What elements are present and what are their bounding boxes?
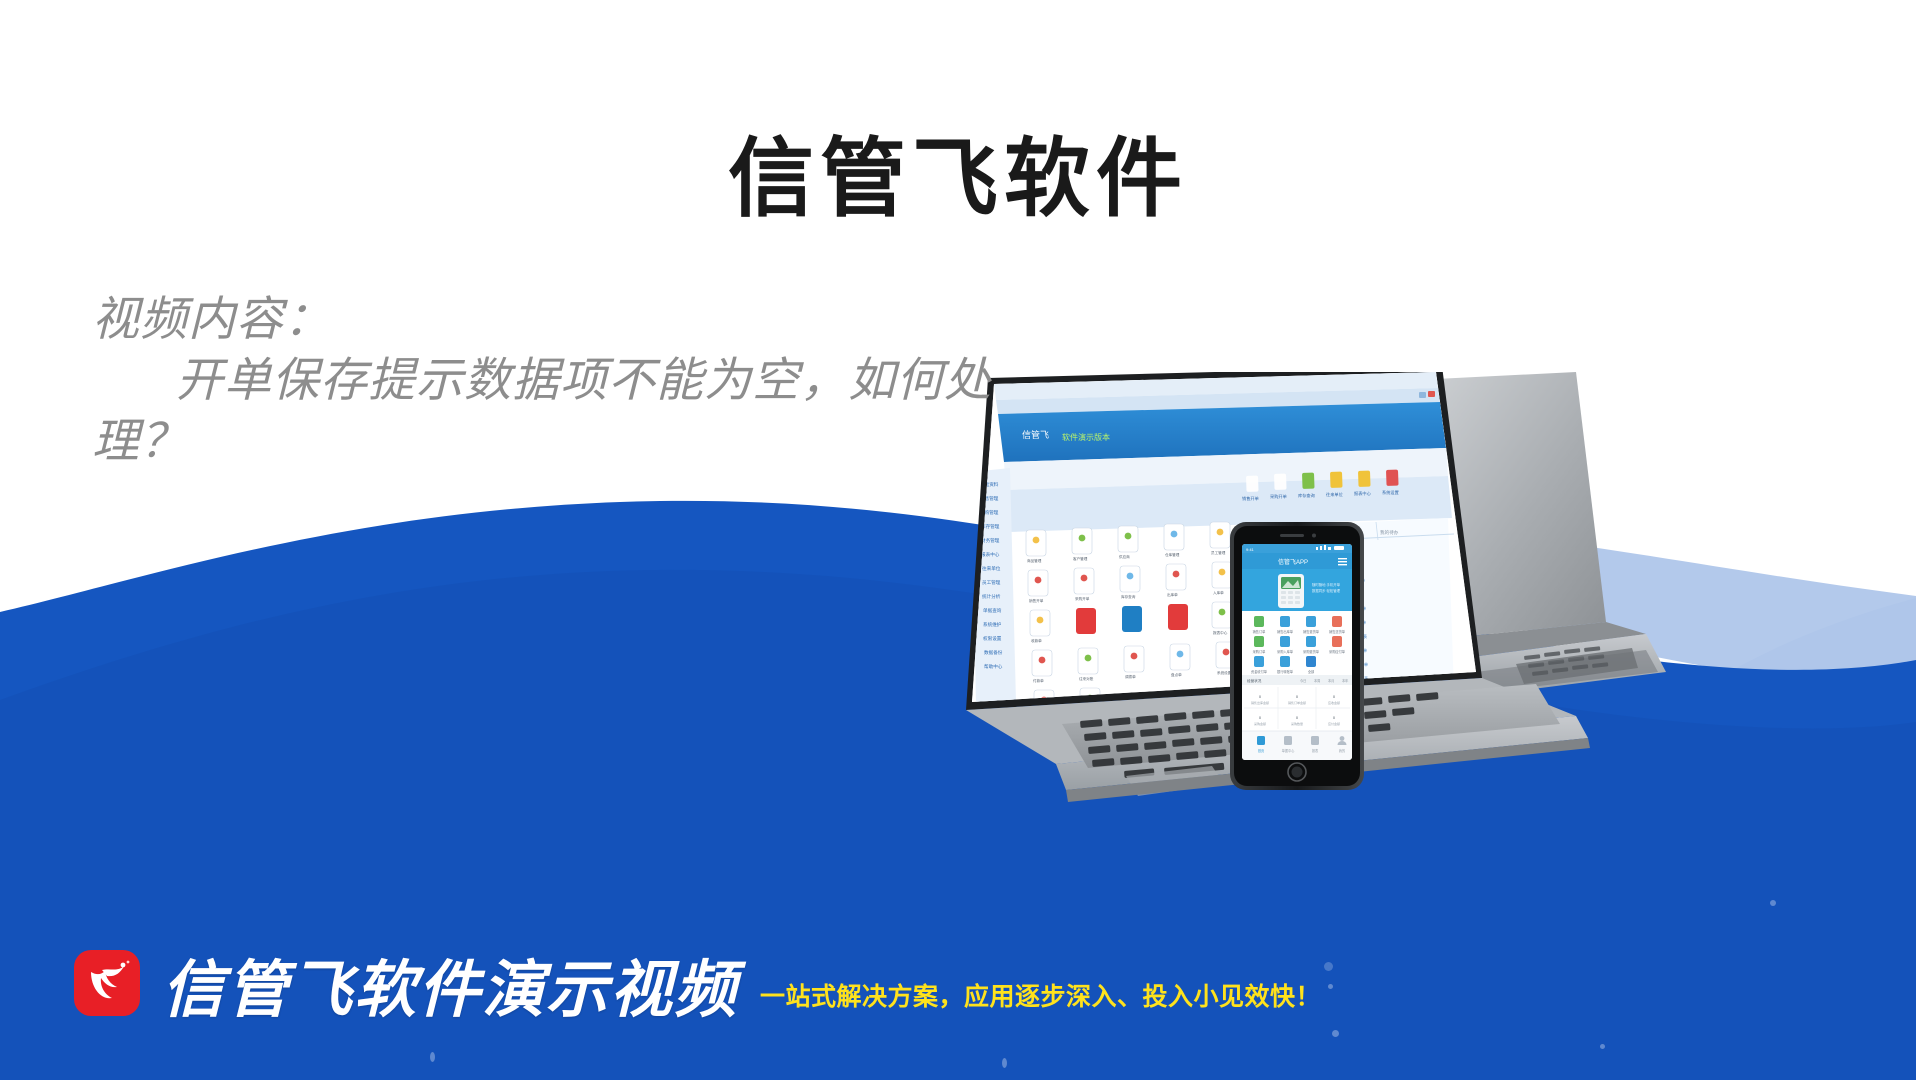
svg-text:员工管理: 员工管理 xyxy=(1211,550,1226,555)
svg-text:系统设置: 系统设置 xyxy=(1217,670,1232,675)
decorative-dot xyxy=(1332,1030,1339,1037)
svg-text:往来单位: 往来单位 xyxy=(982,565,1001,572)
smartphone-with-mobile-app: 9:41 信管飞APP xyxy=(1230,522,1364,790)
svg-text:资金收付单: 资金收付单 xyxy=(1251,669,1268,674)
svg-text:全部: 全部 xyxy=(1308,669,1315,674)
svg-text:采购订单: 采购订单 xyxy=(1253,649,1267,654)
svg-text:单据查询: 单据查询 xyxy=(983,607,1002,614)
svg-text:报表中心: 报表中心 xyxy=(1213,630,1228,635)
svg-text:权限设置: 权限设置 xyxy=(983,635,1002,642)
decorative-dot xyxy=(1600,1044,1605,1049)
svg-text:9:41: 9:41 xyxy=(1246,547,1255,552)
video-content-block: 视频内容： 开单保存提示数据项不能为空，如何处 理？ xyxy=(92,288,1092,471)
svg-text:采购入库单: 采购入库单 xyxy=(1277,649,1294,654)
mobile-app-screen: 9:41 信管飞APP xyxy=(1242,544,1352,760)
svg-text:销售单: 销售单 xyxy=(1077,638,1088,643)
page-title: 信管飞软件 xyxy=(0,130,1916,229)
svg-text:销售订单金额: 销售订单金额 xyxy=(1288,700,1306,705)
svg-text:采购进货单: 采购进货单 xyxy=(1123,636,1141,641)
svg-text:付款单: 付款单 xyxy=(1033,678,1044,683)
svg-text:银行转账单: 银行转账单 xyxy=(1277,669,1294,674)
svg-text:数据备份: 数据备份 xyxy=(984,649,1003,656)
decorative-dot xyxy=(1324,962,1333,971)
decorative-dot xyxy=(1770,900,1776,906)
svg-text:销售退货单: 销售退货单 xyxy=(1303,629,1320,634)
svg-text:销售开单: 销售开单 xyxy=(1029,598,1044,603)
svg-text:库存查询: 库存查询 xyxy=(1298,492,1315,499)
svg-text:仓库管理: 仓库管理 xyxy=(1165,552,1180,557)
svg-text:销售出库单: 销售出库单 xyxy=(1277,629,1294,634)
svg-text:出库单: 出库单 xyxy=(1167,592,1178,597)
svg-text:我的: 我的 xyxy=(1339,748,1345,753)
svg-text:系统设置: 系统设置 xyxy=(1382,489,1399,496)
svg-text:帮助中心: 帮助中心 xyxy=(984,663,1003,670)
svg-text:入库单: 入库单 xyxy=(1213,590,1224,595)
svg-text:商品管理: 商品管理 xyxy=(1027,558,1042,563)
svg-text:往来对账: 往来对账 xyxy=(1079,676,1094,681)
svg-text:销售出库金额: 销售出库金额 xyxy=(1251,700,1269,705)
svg-text:数据同步 轻松管理: 数据同步 轻松管理 xyxy=(1312,588,1341,593)
svg-text:销售订单: 销售订单 xyxy=(1253,629,1267,634)
svg-text:采购开单: 采购开单 xyxy=(1075,596,1090,601)
decorative-dot xyxy=(430,1052,435,1062)
svg-text:随时随地 手机开单: 随时随地 手机开单 xyxy=(1312,582,1341,587)
svg-text:财务管理: 财务管理 xyxy=(981,537,1000,544)
svg-text:应付金额: 应付金额 xyxy=(1328,721,1340,726)
svg-text:供应商: 供应商 xyxy=(1119,554,1130,559)
video-content-label: 视频内容： xyxy=(92,288,1092,349)
video-content-question-line-1: 开单保存提示数据项不能为空，如何处 xyxy=(92,349,1092,410)
svg-text:系统维护: 系统维护 xyxy=(983,621,1002,628)
svg-text:收款单: 收款单 xyxy=(1031,638,1042,643)
svg-text:经营状况: 经营状况 xyxy=(1247,678,1262,683)
svg-text:本月: 本月 xyxy=(1328,678,1334,683)
svg-text:客户管理: 客户管理 xyxy=(1073,556,1088,561)
svg-text:采购应付单: 采购应付单 xyxy=(1329,649,1346,654)
presentation-slide: 信管飞软件 视频内容： 开单保存提示数据项不能为空，如何处 理？ xyxy=(0,0,1916,1080)
svg-text:本周: 本周 xyxy=(1314,678,1320,683)
svg-text:采购退货单: 采购退货单 xyxy=(1303,649,1320,654)
brand-bar: 信管飞软件演示视频 一站式解决方案，应用逐步深入、投入小见效快！ xyxy=(74,950,1321,1022)
svg-text:销售开单: 销售开单 xyxy=(1242,495,1259,502)
svg-text:销售送货单: 销售送货单 xyxy=(1329,629,1346,634)
svg-text:报表中心: 报表中心 xyxy=(1354,490,1372,497)
svg-text:盘点单: 盘点单 xyxy=(1171,672,1182,677)
svg-text:信管飞APP: 信管飞APP xyxy=(1278,558,1308,566)
brand-name: 信管飞软件演示视频 xyxy=(162,960,738,1022)
svg-text:采购数量: 采购数量 xyxy=(1291,721,1303,726)
svg-text:报表中心: 报表中心 xyxy=(981,551,1000,558)
video-content-question-line-2: 理？ xyxy=(92,410,1092,471)
svg-text:调拨单: 调拨单 xyxy=(1125,674,1136,679)
brand-tagline: 一站式解决方案，应用逐步深入、投入小见效快！ xyxy=(760,985,1321,1010)
xinguanfei-bird-logo-icon xyxy=(74,950,140,1016)
svg-text:往来单位: 往来单位 xyxy=(1326,491,1343,498)
svg-text:我的待办: 我的待办 xyxy=(1380,529,1399,536)
svg-text:采购金额: 采购金额 xyxy=(1254,721,1266,726)
svg-text:今日: 今日 xyxy=(1300,678,1306,683)
svg-text:首页: 首页 xyxy=(1258,748,1264,753)
svg-text:应收金额: 应收金额 xyxy=(1328,700,1340,705)
svg-text:库存查询: 库存查询 xyxy=(1121,594,1136,599)
svg-text:采购开单: 采购开单 xyxy=(1270,493,1287,500)
svg-text:统计分析: 统计分析 xyxy=(982,593,1001,600)
decorative-dot xyxy=(1328,984,1333,989)
svg-text:员工管理: 员工管理 xyxy=(982,579,1001,586)
svg-text:销售退货: 销售退货 xyxy=(1169,634,1184,639)
svg-text:本年: 本年 xyxy=(1342,678,1349,683)
decorative-dot xyxy=(1002,1058,1007,1068)
svg-text:单据中心: 单据中心 xyxy=(1282,748,1296,753)
svg-text:报表: 报表 xyxy=(1312,748,1319,753)
